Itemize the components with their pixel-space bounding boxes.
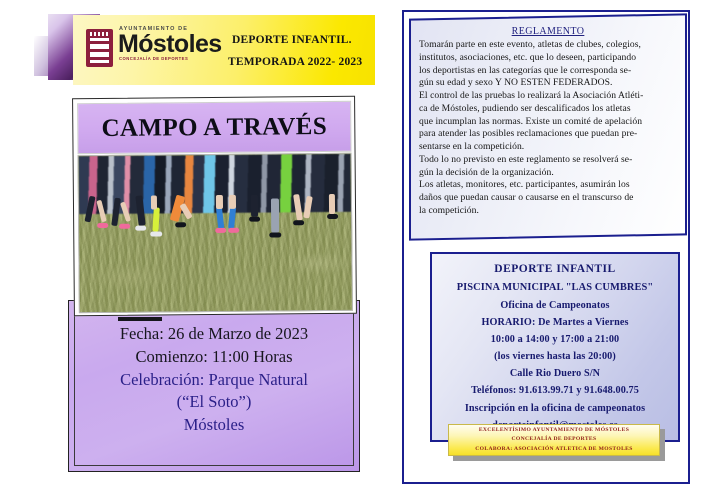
info-address: Calle Rio Duero S/N <box>432 365 678 382</box>
info-phones: Teléfonos: 91.613.99.71 y 91.648.00.75 <box>432 382 678 399</box>
reglamento-line: que incumplan las normas. Existe un comi… <box>419 116 677 129</box>
reglamento-line: gún la decisión de la organización. <box>419 167 677 180</box>
reglamento-line: daños que puedan causar o causarse en el… <box>419 192 677 205</box>
header-title-line1: DEPORTE INFANTIL. <box>232 30 378 52</box>
credits-line-municipality: EXCELENTÍSIMO AYUNTAMIENTO DE MÓSTOLES <box>479 426 629 435</box>
info-heading: DEPORTE INFANTIL <box>432 260 678 279</box>
reglamento-body: Tomarán parte en este evento, atletas de… <box>419 39 677 218</box>
shield-bars <box>90 38 109 63</box>
logo-tagline: CONCEJALÍA DE DEPORTES <box>119 57 222 61</box>
credits-line-collaborator: COLABORA: ASOCIACIÓN ATLETICA DE MOSTOLE… <box>475 445 632 454</box>
credits-box: EXCELENTÍSIMO AYUNTAMIENTO DE MÓSTOLES C… <box>448 424 660 456</box>
contact-info-box: DEPORTE INFANTIL PISCINA MUNICIPAL "LAS … <box>430 252 680 442</box>
event-title: CAMPO A TRAVÉS <box>101 113 327 143</box>
event-details-text: Fecha: 26 de Marzo de 2023 Comienzo: 11:… <box>69 323 359 437</box>
info-schedule-days: HORARIO: De Martes a Viernes <box>432 314 678 331</box>
event-detail-venue-alias: (“El Soto”) <box>69 391 359 414</box>
info-facility: PISCINA MUNICIPAL "LAS CUMBRES" <box>432 279 678 296</box>
reglamento-title: REGLAMENTO <box>419 26 677 37</box>
reglamento-line: sentarse en la competición. <box>419 141 677 154</box>
reglamento-line: para atender las posibles reclamaciones … <box>419 128 677 141</box>
race-photo <box>78 153 353 313</box>
event-photo-card: CAMPO A TRAVÉS <box>72 96 357 316</box>
info-office: Oficina de Campeonatos <box>432 297 678 314</box>
reglamento-line: El control de las pruebas lo realizará l… <box>419 90 677 103</box>
credits-line-department: CONCEJALÍA DE DEPORTES <box>512 435 597 444</box>
reglamento-line: Tomarán parte en este evento, atletas de… <box>419 39 677 52</box>
reglamento-line: ca de Móstoles, pudiendo ser descalifica… <box>419 103 677 116</box>
logo-text-group: AYUNTAMIENTO DE Móstoles CONCEJALÍA DE D… <box>118 27 222 61</box>
reglamento-line: institutos, asociaciones, etc. que lo de… <box>419 52 677 65</box>
reglamento-line: Todo lo no previsto en este reglamento s… <box>419 154 677 167</box>
coat-of-arms-icon <box>86 29 113 67</box>
reglamento-line: los deportistas en las categorías que le… <box>419 65 677 78</box>
panel-divider-mark <box>118 317 162 321</box>
mostoles-logo: AYUNTAMIENTO DE Móstoles CONCEJALÍA DE D… <box>86 27 226 73</box>
reglamento-box: REGLAMENTO Tomarán parte en este evento,… <box>409 13 687 240</box>
header-title: DEPORTE INFANTIL. TEMPORADA 2022- 2023 <box>228 30 378 74</box>
crown-detail <box>90 32 109 36</box>
header-title-line2: TEMPORADA 2022- 2023 <box>228 52 378 74</box>
photo-runner-legs <box>79 194 352 268</box>
info-schedule-hours: 10:00 a 14:00 y 17:00 a 21:00 <box>432 331 678 348</box>
reglamento-line: Los atletas, monitores, etc. participant… <box>419 179 677 192</box>
event-detail-start-time: Comienzo: 11:00 Horas <box>69 346 359 369</box>
reglamento-inner: REGLAMENTO Tomarán parte en este evento,… <box>411 18 685 218</box>
event-detail-date: Fecha: 26 de Marzo de 2023 <box>69 323 359 346</box>
reglamento-line: la competición. <box>419 205 677 218</box>
event-detail-city: Móstoles <box>69 414 359 437</box>
event-detail-venue: Celebración: Parque Natural <box>69 369 359 392</box>
logo-name: Móstoles <box>118 33 222 57</box>
event-details-panel: Fecha: 26 de Marzo de 2023 Comienzo: 11:… <box>68 300 360 472</box>
poster-canvas: AYUNTAMIENTO DE Móstoles CONCEJALÍA DE D… <box>0 0 715 494</box>
info-registration: Inscripción en la oficina de campeonatos <box>432 400 678 417</box>
info-schedule-note: (los viernes hasta las 20:00) <box>432 348 678 365</box>
event-title-banner: CAMPO A TRAVÉS <box>77 101 351 154</box>
reglamento-line: gún su edad y sexo Y NO ESTEN FEDERADOS. <box>419 77 677 90</box>
